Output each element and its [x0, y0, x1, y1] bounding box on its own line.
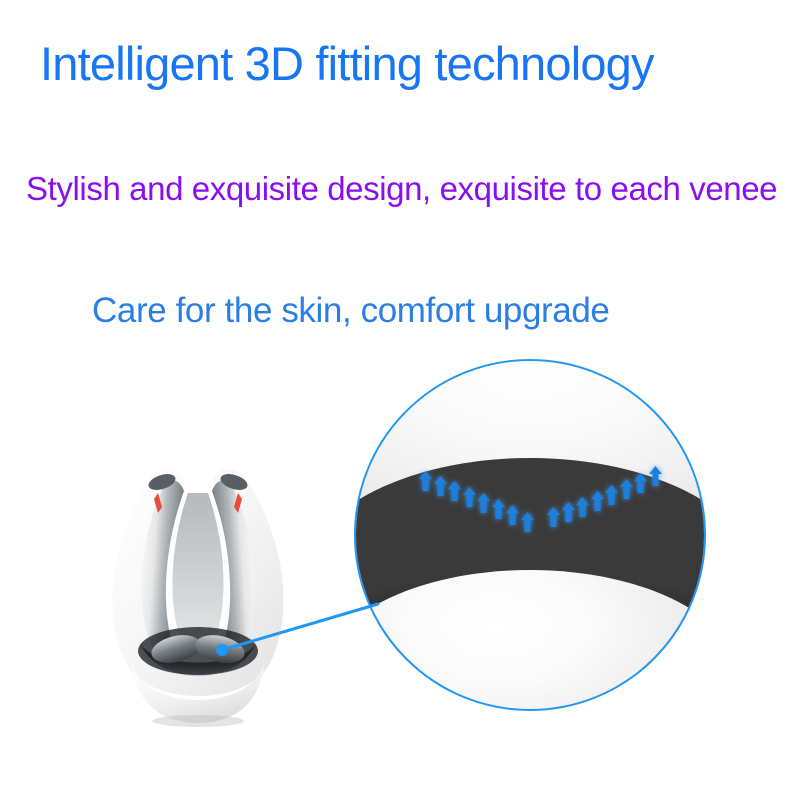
stimulation-arrow-icon [491, 499, 506, 519]
product-illustration [0, 0, 800, 800]
device-illustration [92, 455, 304, 727]
stimulation-arrow-icon [604, 485, 619, 505]
magnified-lower-dome [354, 570, 706, 711]
stimulation-arrow [561, 502, 576, 522]
stimulation-arrow-icon [505, 505, 520, 525]
neck-massager-device [92, 455, 304, 727]
product-marketing-banner: Intelligent 3D fitting technology Stylis… [0, 0, 800, 800]
stimulation-arrow [590, 491, 605, 511]
stimulation-arrow [462, 487, 477, 507]
stimulation-arrow-icon [648, 466, 663, 486]
stimulation-arrow-icon [418, 471, 433, 491]
stimulation-arrow [491, 499, 506, 519]
stimulation-arrow [633, 473, 648, 493]
stimulation-arrow-icon [433, 476, 448, 496]
stimulation-arrow [575, 497, 590, 517]
stimulation-arrow-icon [476, 493, 491, 513]
stimulation-arrow-icon [575, 497, 590, 517]
detail-magnifier-circle [354, 359, 706, 711]
stimulation-arrow [476, 493, 491, 513]
stimulation-arrow-icon [561, 502, 576, 522]
stimulation-arrow-icon [590, 491, 605, 511]
stimulation-arrow-icon [546, 507, 561, 527]
device-shadow [152, 715, 244, 727]
stimulation-arrow [546, 507, 561, 527]
stimulation-arrow [447, 481, 462, 501]
stimulation-arrow-icon [462, 487, 477, 507]
stimulation-arrow-icon [619, 479, 634, 499]
stimulation-arrow [433, 476, 448, 496]
stimulation-arrow [604, 485, 619, 505]
device-inner-shading [172, 493, 223, 647]
stimulation-arrow [619, 479, 634, 499]
stimulation-arrow-icon [633, 473, 648, 493]
stimulation-arrow [648, 466, 663, 486]
stimulation-arrow-icon [520, 512, 535, 532]
stimulation-arrow-icon [447, 481, 462, 501]
stimulation-arrow [520, 512, 535, 532]
stimulation-arrow [505, 505, 520, 525]
stimulation-arrow [418, 471, 433, 491]
